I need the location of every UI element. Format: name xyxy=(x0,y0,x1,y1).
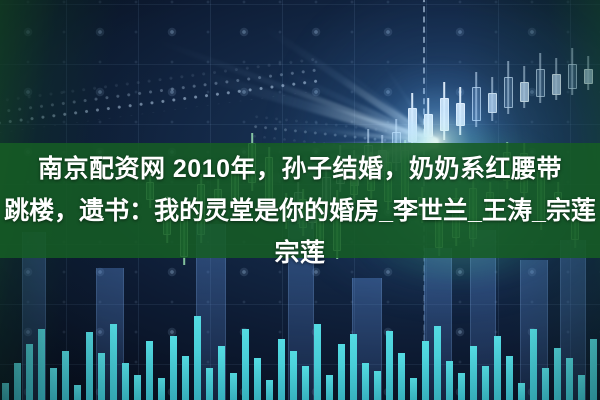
caption-line-1: 南京配资网 2010年，孙子结婚，奶奶系红腰带 xyxy=(0,148,600,190)
screenshot-canvas: 南京配资网 2010年，孙子结婚，奶奶系红腰带 跳楼，遗书：我的灵堂是你的婚房_… xyxy=(0,0,600,400)
caption-line-3: 宗莲 xyxy=(0,232,600,274)
caption-text: 南京配资网 2010年，孙子结婚，奶奶系红腰带 跳楼，遗书：我的灵堂是你的婚房_… xyxy=(0,143,600,258)
caption-line-2: 跳楼，遗书：我的灵堂是你的婚房_李世兰_王涛_宗莲 xyxy=(0,190,600,232)
